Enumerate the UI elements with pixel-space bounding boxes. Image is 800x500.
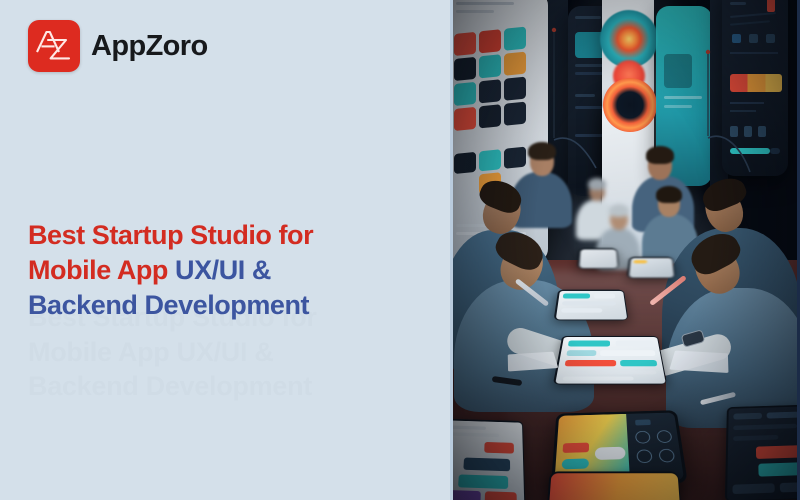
headline-line-1: Best Startup Studio for xyxy=(28,220,313,250)
table-card-left xyxy=(450,419,525,500)
headline-line-3: Backend Development xyxy=(28,290,309,320)
headline-line-2-blue: UX/UI & xyxy=(175,255,271,285)
table-device-mid-1 xyxy=(554,290,629,321)
hero-banner: Best Startup Studio for Mobile App UX/UI… xyxy=(0,0,800,500)
appzoro-wordmark: AppZoro xyxy=(91,32,208,61)
photo-left-border xyxy=(450,0,453,500)
logo-lockup[interactable]: AppZoro xyxy=(28,20,208,72)
table-device-far-2 xyxy=(627,257,676,279)
table-device-far-1 xyxy=(577,248,619,269)
table-card-orange xyxy=(546,471,681,500)
left-content-panel: Best Startup Studio for Mobile App UX/UI… xyxy=(0,0,450,500)
person-near-left-front xyxy=(454,240,594,410)
ghost-line-3: Backend Development xyxy=(28,369,428,404)
paper-note-right xyxy=(669,351,728,373)
headline-line-2-red: Mobile App xyxy=(28,255,175,285)
hero-photo xyxy=(450,0,800,500)
page-title: Best Startup Studio for Mobile App UX/UI… xyxy=(28,218,428,323)
appzoro-logo-icon xyxy=(28,20,80,72)
ghost-line-2: Mobile App UX/UI & xyxy=(28,335,428,370)
table-card-right xyxy=(725,405,800,500)
table-tablet-main xyxy=(553,336,667,385)
